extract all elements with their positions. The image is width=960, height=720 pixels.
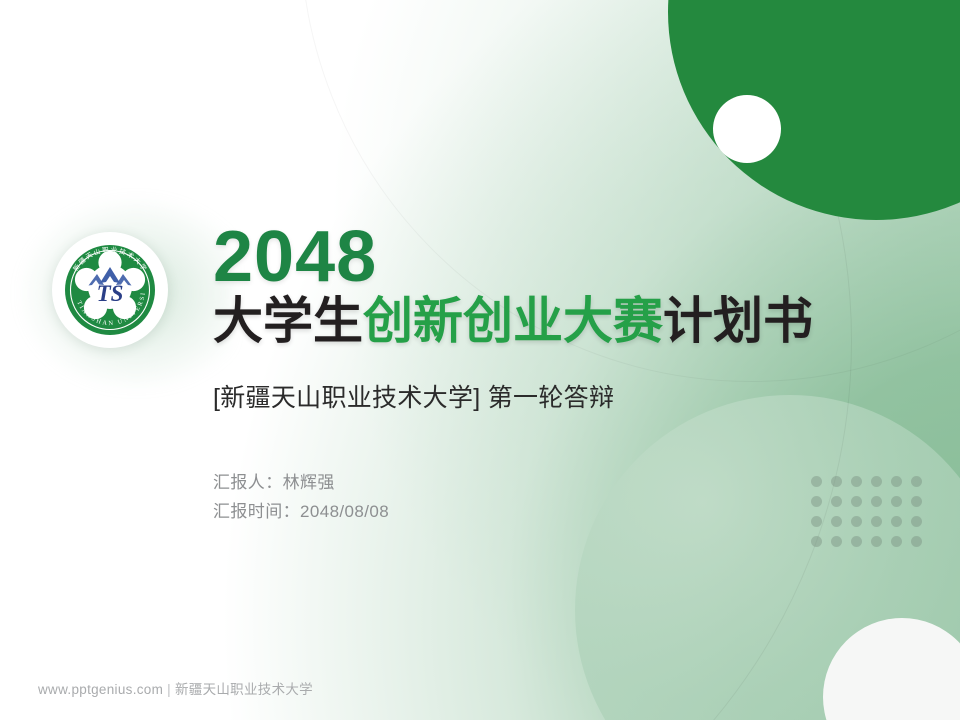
title-segment-trailing: 计划书 [663, 293, 813, 349]
university-logo: TS 新疆天山职业技术大学 TIANSHAN UNIVERSITY [52, 232, 168, 348]
grid-dot [851, 536, 862, 547]
white-accent-circle-shape [713, 95, 781, 163]
footer: www.pptgenius.com|新疆天山职业技术大学 [38, 678, 313, 698]
grid-dot [911, 536, 922, 547]
date-line: 汇报时间：2048/08/08 [213, 497, 913, 526]
year-heading: 2048 [213, 222, 913, 293]
page-title: 大学生创新创业大赛计划书 [213, 295, 913, 348]
grid-dot [831, 536, 842, 547]
title-block: 2048 大学生创新创业大赛计划书 [新疆天山职业技术大学] 第一轮答辩 汇报人… [213, 222, 913, 526]
footer-org: 新疆天山职业技术大学 [175, 682, 313, 697]
title-segment-leading: 大学生 [213, 293, 363, 349]
subtitle: [新疆天山职业技术大学] 第一轮答辩 [213, 378, 913, 414]
slide-canvas: TS 新疆天山职业技术大学 TIANSHAN UNIVERSITY 2048 大… [0, 0, 960, 720]
brand-green-circle-shape [668, 0, 960, 220]
presenter-line: 汇报人：林辉强 [213, 468, 913, 497]
footer-website: www.pptgenius.com [38, 682, 163, 697]
grid-dot [891, 536, 902, 547]
svg-text:TS: TS [97, 281, 124, 306]
footer-separator: | [167, 682, 171, 697]
presentation-meta: 汇报人：林辉强 汇报时间：2048/08/08 [213, 468, 913, 526]
title-segment-highlight: 创新创业大赛 [363, 293, 663, 349]
grid-dot [811, 536, 822, 547]
grid-dot [871, 536, 882, 547]
white-corner-circle-shape [823, 618, 960, 720]
